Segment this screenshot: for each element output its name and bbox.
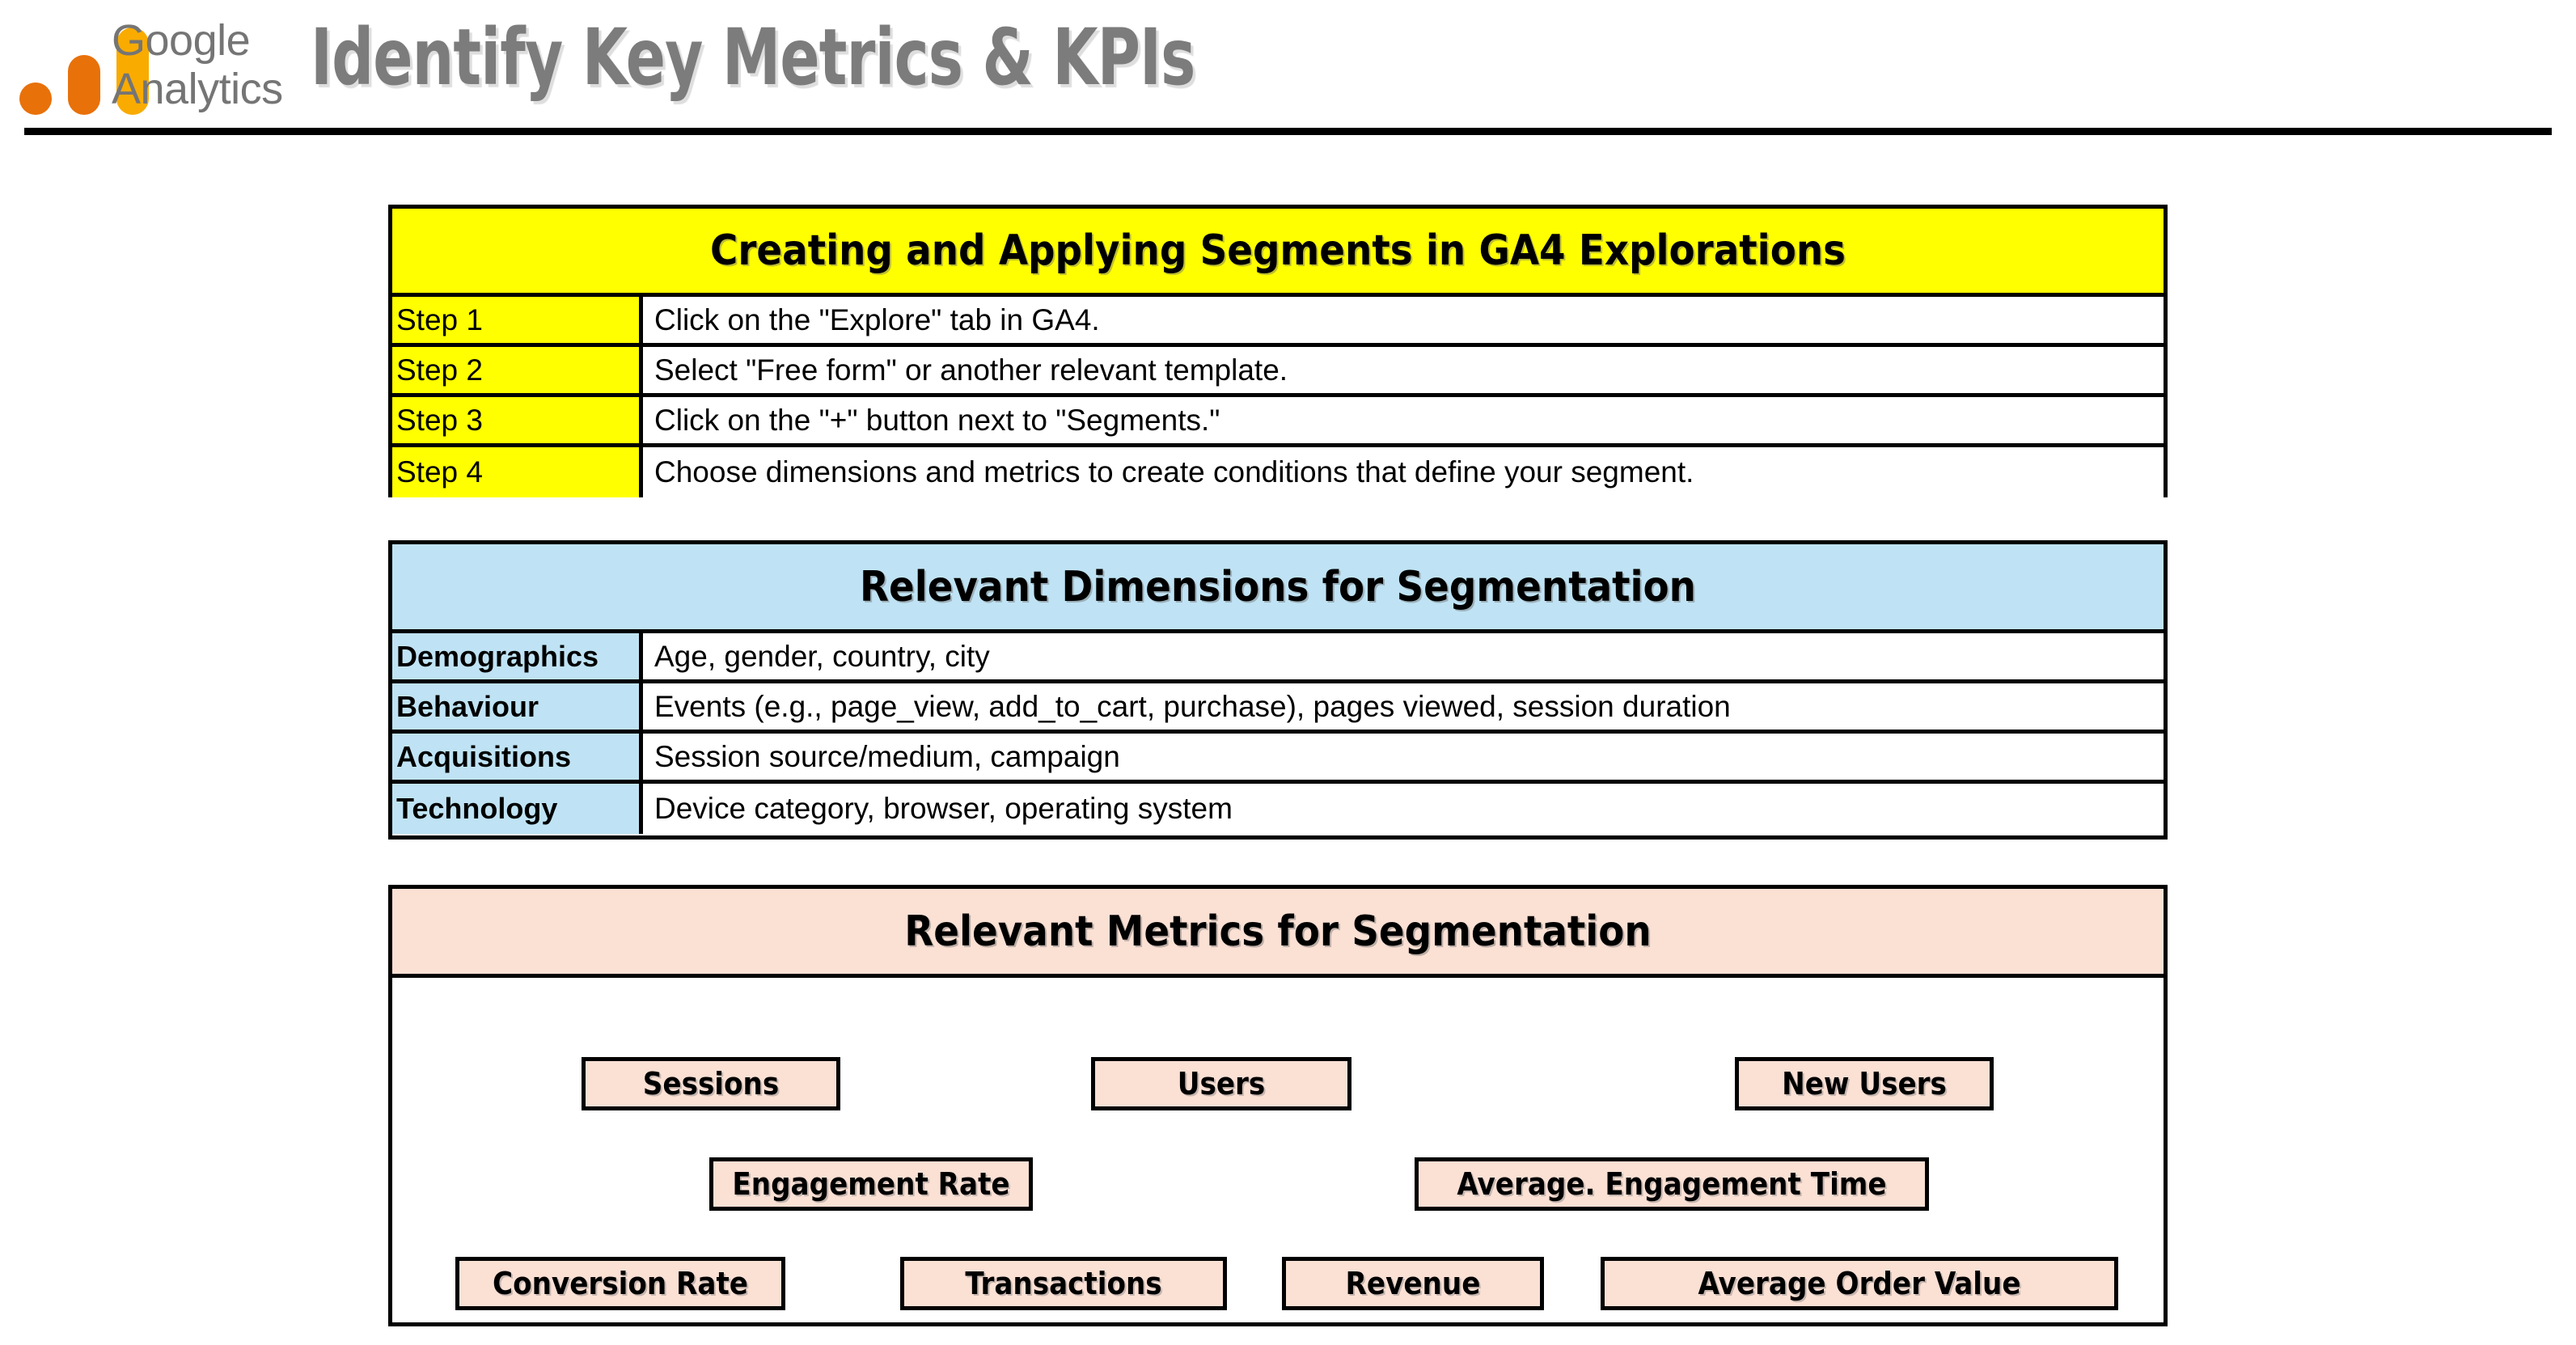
google-analytics-logo: Google Analytics (11, 11, 294, 116)
header-divider (24, 128, 2552, 135)
dimension-category: Behaviour (392, 683, 643, 730)
step-description: Click on the "+" button next to "Segment… (643, 397, 2164, 443)
dimension-examples: Events (e.g., page_view, add_to_cart, pu… (643, 683, 2164, 730)
table-row: Step 4 Choose dimensions and metrics to … (392, 447, 2164, 497)
metric-chip-new-users[interactable]: New Users (1735, 1057, 1994, 1110)
metric-chip-conversion-rate[interactable]: Conversion Rate (455, 1257, 785, 1310)
step-label: Step 3 (392, 397, 643, 443)
relevant-metrics-panel: Relevant Metrics for Segmentation Sessio… (388, 885, 2168, 1326)
table-row: Demographics Age, gender, country, city (392, 633, 2164, 683)
step-label: Step 1 (392, 297, 643, 343)
metric-chip-average-order-value[interactable]: Average Order Value (1601, 1257, 2118, 1310)
metric-chip-revenue[interactable]: Revenue (1282, 1257, 1544, 1310)
step-label: Step 2 (392, 347, 643, 393)
dimension-examples: Device category, browser, operating syst… (643, 784, 2164, 834)
dimension-category: Demographics (392, 633, 643, 679)
google-analytics-wordmark: Google Analytics (112, 16, 298, 115)
step-description: Choose dimensions and metrics to create … (643, 447, 2164, 497)
steps-table-title: Creating and Applying Segments in GA4 Ex… (392, 209, 2164, 297)
metrics-panel-title: Relevant Metrics for Segmentation (392, 889, 2164, 978)
metric-chip-engagement-rate[interactable]: Engagement Rate (709, 1157, 1033, 1211)
metric-chip-sessions[interactable]: Sessions (582, 1057, 840, 1110)
table-row: Acquisitions Session source/medium, camp… (392, 734, 2164, 784)
dimension-category: Technology (392, 784, 643, 834)
metrics-chip-canvas: Sessions Users New Users Engagement Rate… (392, 978, 2164, 1322)
page-title: Identify Key Metrics & KPIs (311, 5, 1195, 110)
step-label: Step 4 (392, 447, 643, 497)
table-row: Step 3 Click on the "+" button next to "… (392, 397, 2164, 447)
dimensions-table-title: Relevant Dimensions for Segmentation (392, 544, 2164, 633)
logo-text-google: Google (112, 16, 298, 65)
step-description: Click on the "Explore" tab in GA4. (643, 297, 2164, 343)
dimension-examples: Age, gender, country, city (643, 633, 2164, 679)
metric-chip-average-engagement-time[interactable]: Average. Engagement Time (1415, 1157, 1929, 1211)
dimension-examples: Session source/medium, campaign (643, 734, 2164, 780)
step-description: Select "Free form" or another relevant t… (643, 347, 2164, 393)
page-header: Google Analytics Identify Key Metrics & … (0, 0, 2576, 137)
dimension-category: Acquisitions (392, 734, 643, 780)
table-row: Behaviour Events (e.g., page_view, add_t… (392, 683, 2164, 734)
segments-steps-table: Creating and Applying Segments in GA4 Ex… (388, 205, 2168, 497)
table-row: Step 1 Click on the "Explore" tab in GA4… (392, 297, 2164, 347)
table-row: Technology Device category, browser, ope… (392, 784, 2164, 834)
metric-chip-transactions[interactable]: Transactions (900, 1257, 1227, 1310)
metric-chip-users[interactable]: Users (1091, 1057, 1351, 1110)
table-row: Step 2 Select "Free form" or another rel… (392, 347, 2164, 397)
logo-text-analytics: Analytics (112, 65, 298, 113)
relevant-dimensions-table: Relevant Dimensions for Segmentation Dem… (388, 540, 2168, 840)
